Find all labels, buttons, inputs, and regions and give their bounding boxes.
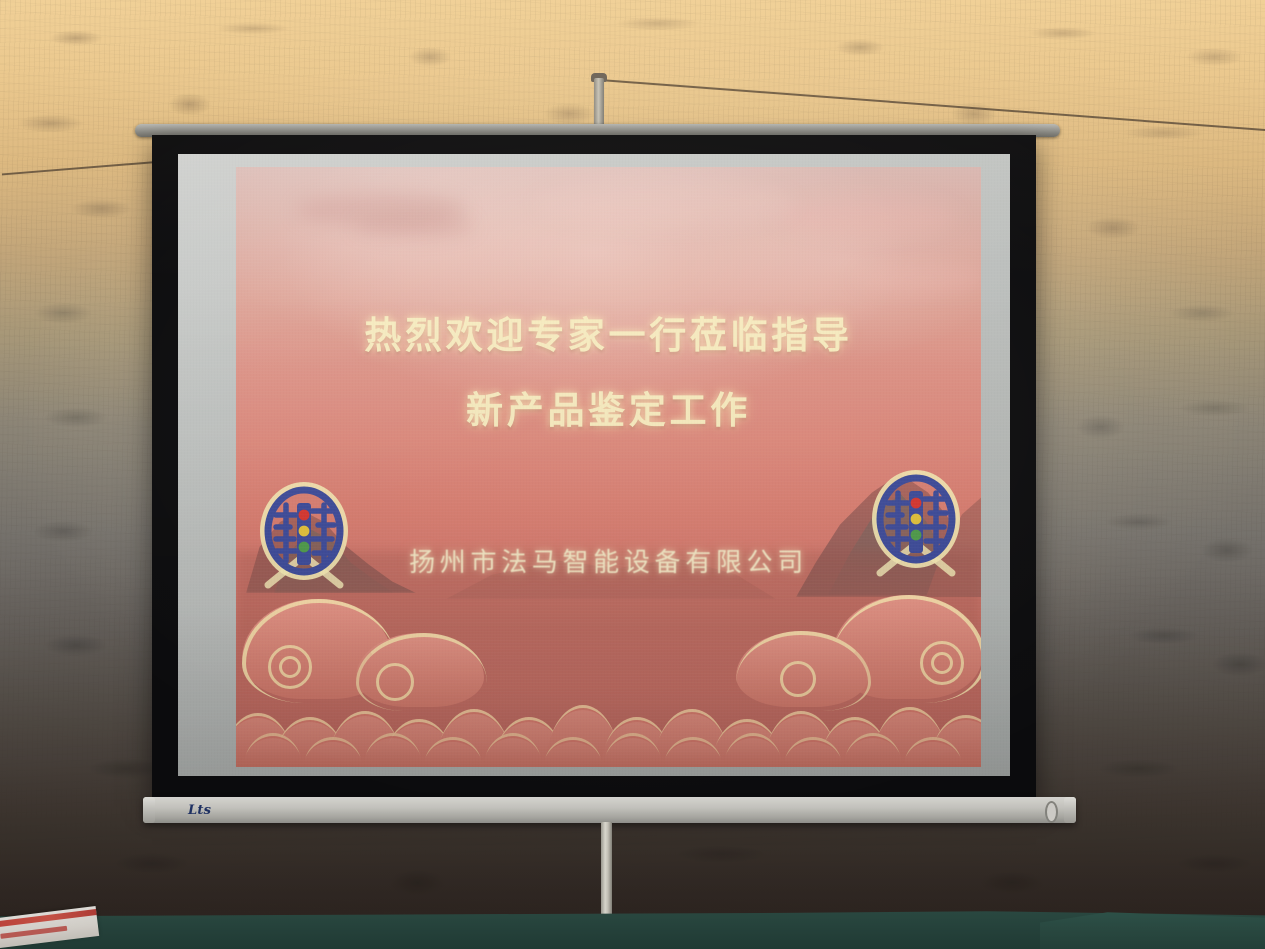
projector-screen-frame: 热烈欢迎专家一行莅临指导 新产品鉴定工作 扬州市法马智能设备有限公司 bbox=[152, 135, 1036, 797]
wave-scallop-row bbox=[236, 587, 981, 767]
slide-company-name: 扬州市法马智能设备有限公司 bbox=[236, 542, 981, 579]
mist-cloud-4 bbox=[536, 179, 796, 229]
mist-cloud-2 bbox=[354, 215, 474, 237]
mist-cloud-3 bbox=[776, 197, 956, 237]
projector-screen-surface: 热烈欢迎专家一行莅临指导 新产品鉴定工作 扬州市法马智能设备有限公司 bbox=[178, 154, 1010, 776]
screen-top-bracket bbox=[594, 78, 604, 130]
projected-slide: 热烈欢迎专家一行莅临指导 新产品鉴定工作 扬州市法马智能设备有限公司 bbox=[236, 167, 981, 767]
paper-red-band-secondary bbox=[0, 926, 67, 939]
slide-title-line-2: 新产品鉴定工作 bbox=[236, 392, 981, 429]
photo-scene: 热烈欢迎专家一行莅临指导 新产品鉴定工作 扬州市法马智能设备有限公司 Lts bbox=[0, 0, 1265, 949]
screen-bottom-roller-bar: Lts bbox=[143, 797, 1076, 823]
mist-cloud-5 bbox=[856, 263, 981, 293]
roller-bar-knob bbox=[1045, 801, 1058, 823]
roller-bar-cap-right bbox=[1064, 797, 1076, 823]
screen-brand-label: Lts bbox=[188, 803, 211, 818]
roller-bar-cap-left bbox=[143, 797, 155, 823]
auspicious-cloud-band bbox=[236, 587, 981, 767]
slide-title-line-1: 热烈欢迎专家一行莅临指导 bbox=[236, 317, 981, 354]
